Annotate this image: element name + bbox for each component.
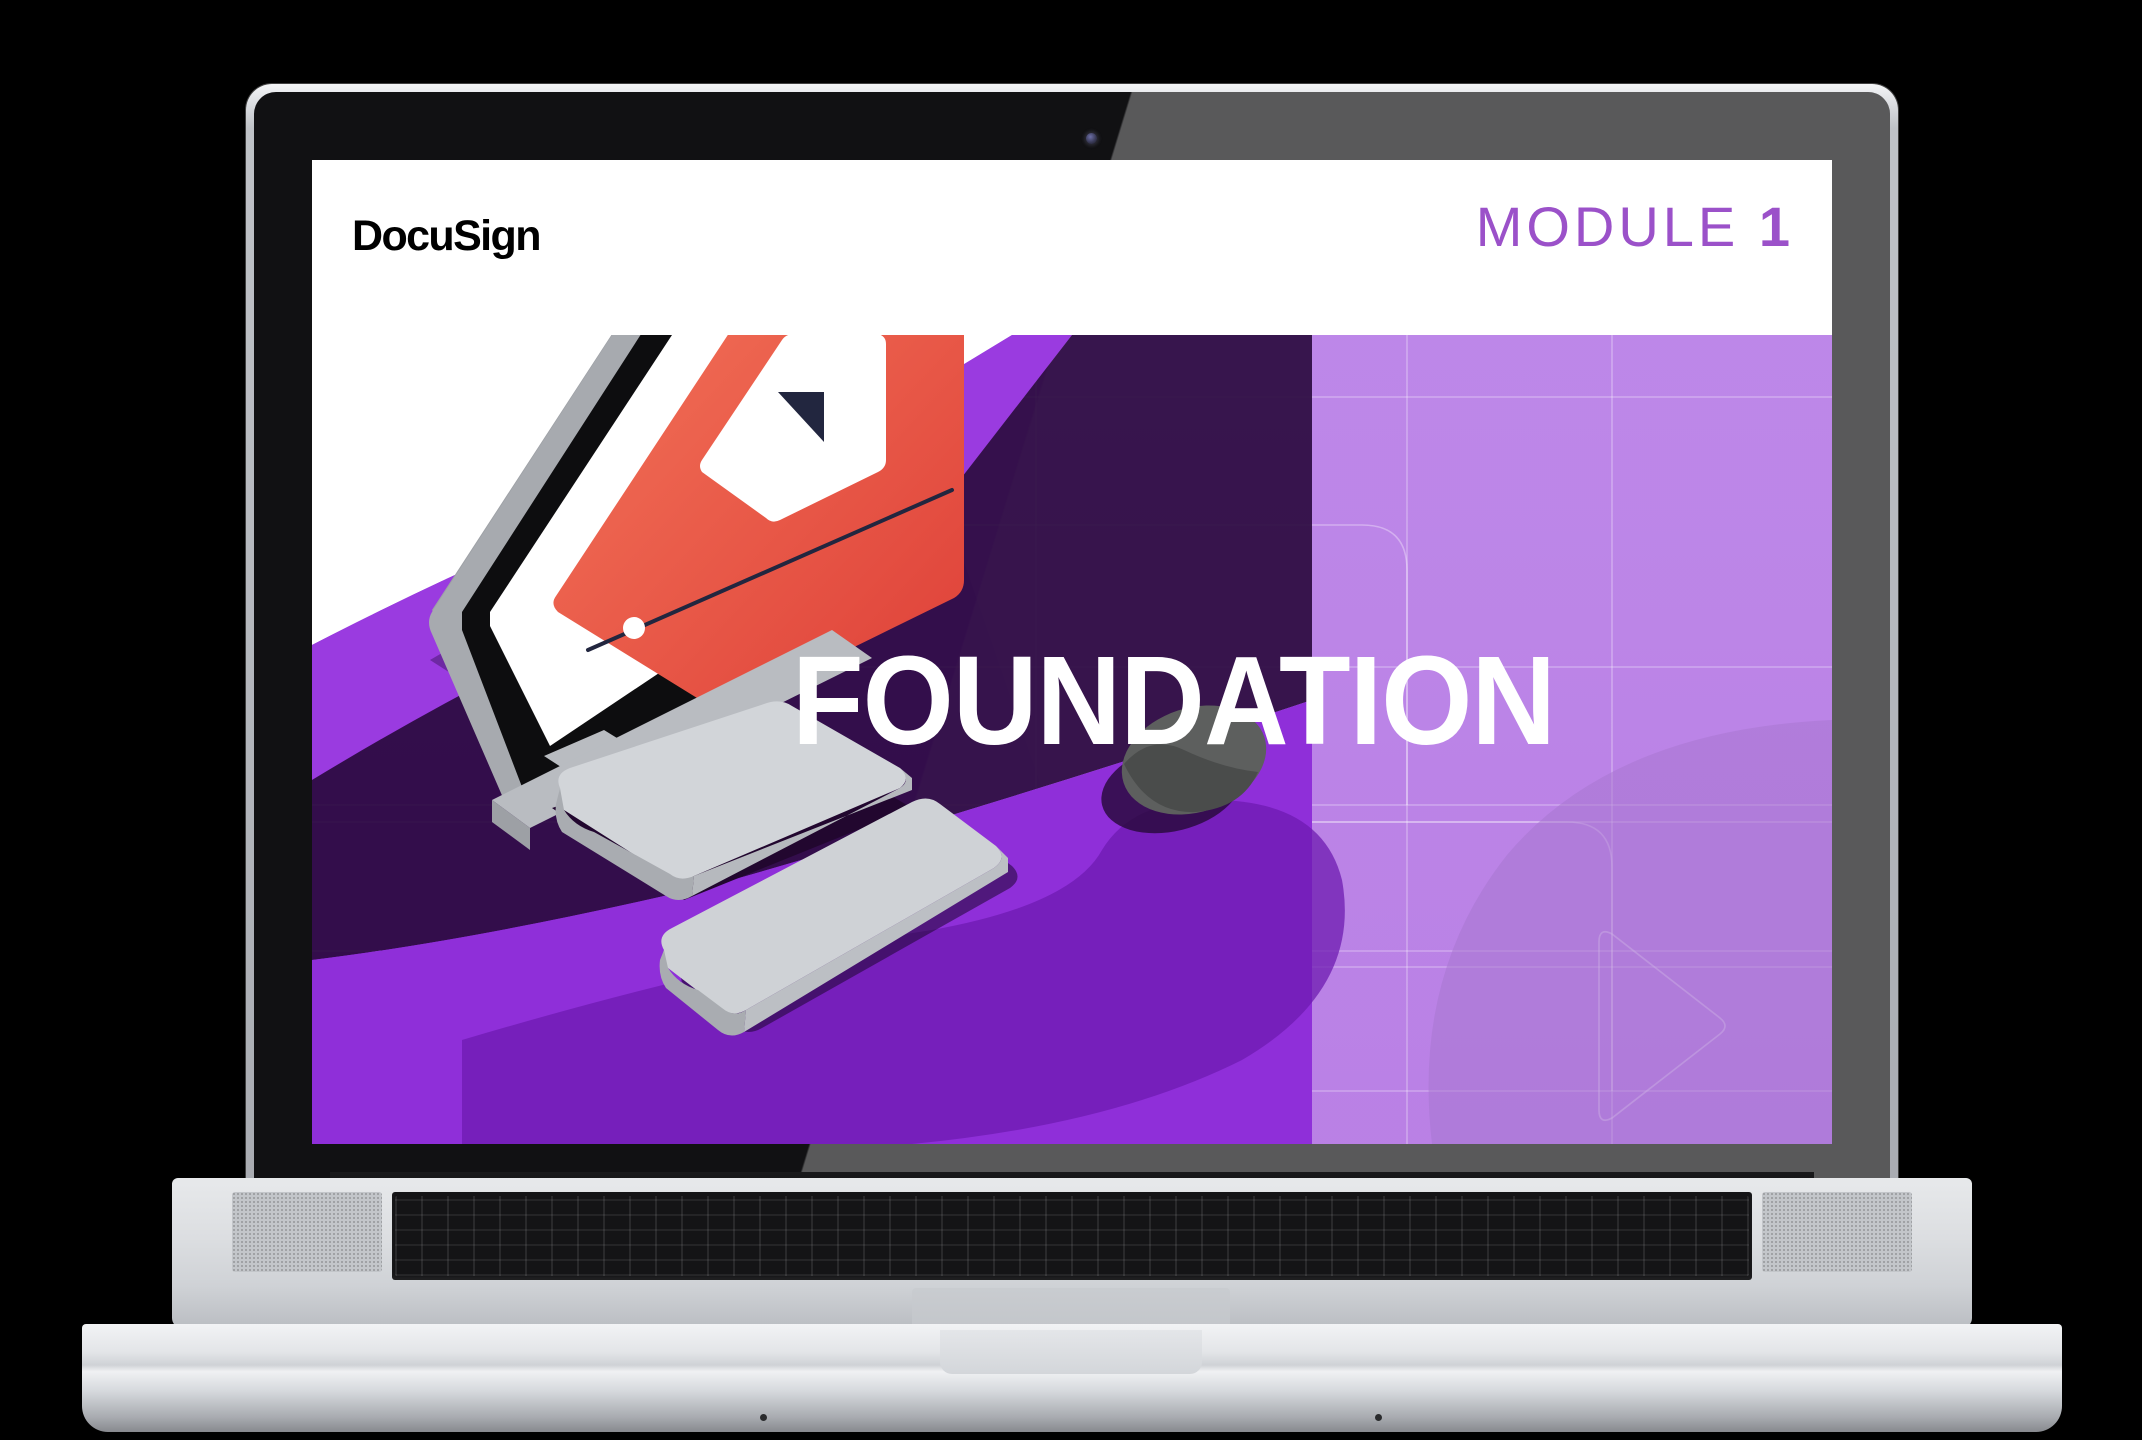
laptop-foot-right bbox=[1375, 1414, 1382, 1421]
laptop-device: DocuSign MODULE 1 FOUNDATION bbox=[0, 0, 2142, 1440]
module-word: MODULE bbox=[1476, 195, 1740, 258]
laptop-keyboard[interactable] bbox=[392, 1192, 1752, 1280]
speaker-grille-left bbox=[232, 1192, 382, 1272]
slide-title: FOUNDATION bbox=[792, 638, 1555, 764]
module-label: MODULE 1 bbox=[1476, 194, 1790, 259]
speaker-grille-right bbox=[1762, 1192, 1912, 1272]
laptop-foot-left bbox=[760, 1414, 767, 1421]
laptop-screen: DocuSign MODULE 1 FOUNDATION bbox=[312, 160, 1832, 1144]
docusign-logo: DocuSign bbox=[352, 212, 540, 261]
webcam-icon bbox=[1086, 133, 1097, 144]
screenshot-stage: DocuSign MODULE 1 FOUNDATION bbox=[0, 0, 2142, 1440]
slide-header: DocuSign MODULE 1 bbox=[312, 160, 1832, 335]
module-number: 1 bbox=[1759, 195, 1790, 258]
laptop-front-notch bbox=[940, 1330, 1202, 1374]
